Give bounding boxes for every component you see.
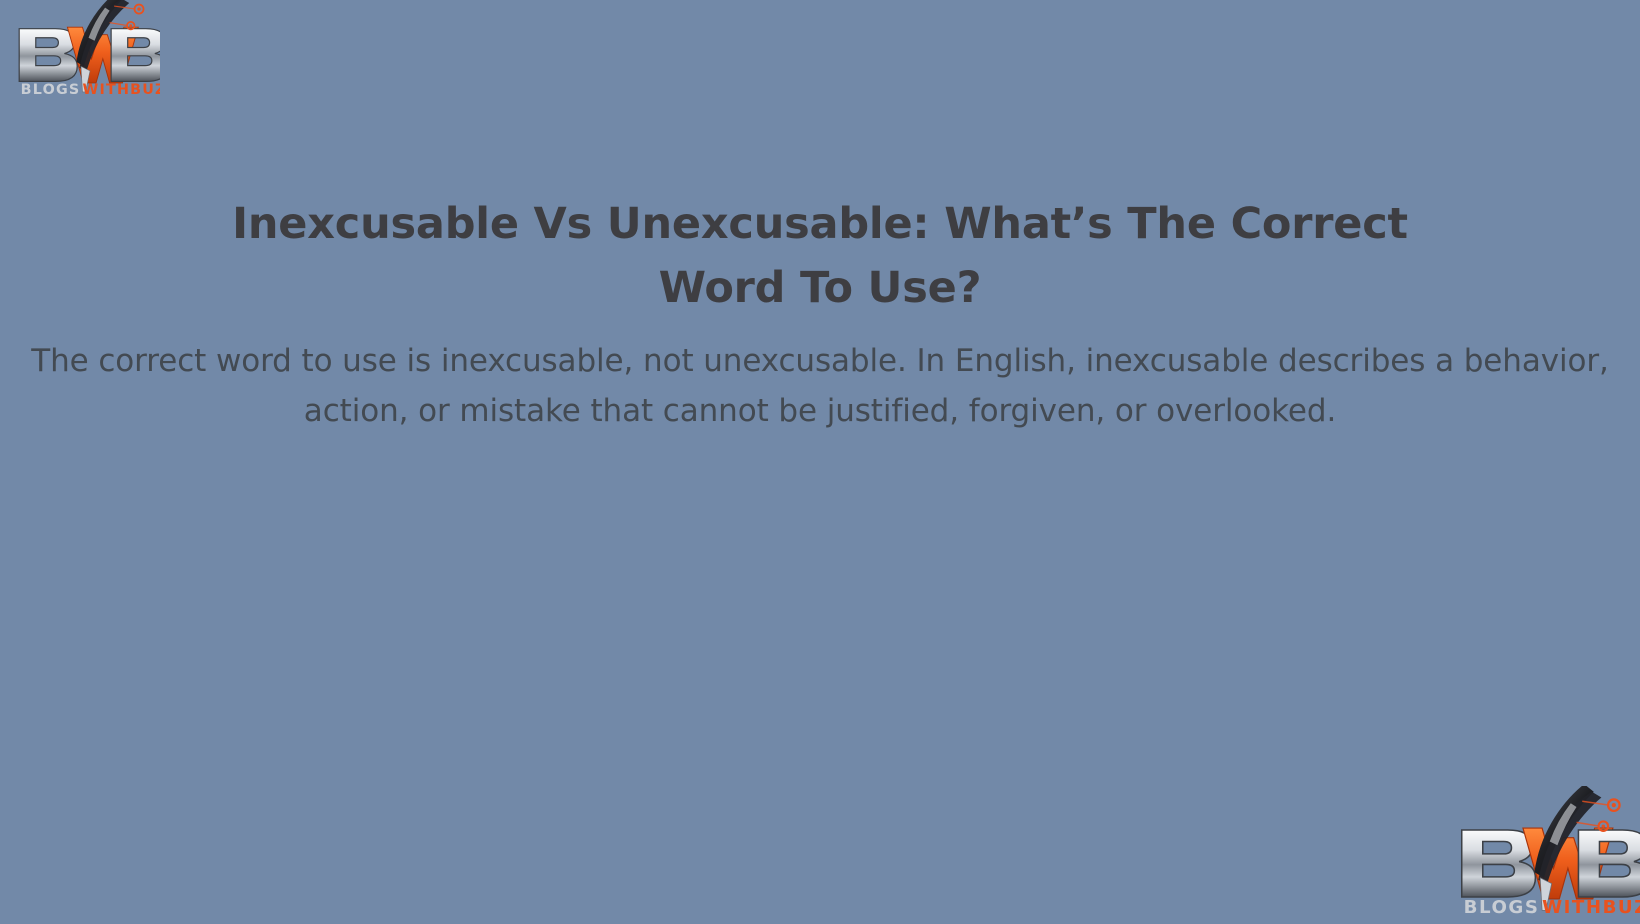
logo-letter-b-right [1578,830,1640,897]
brand-logo-bottom-right[interactable]: BLOGS WITHBUZ [1448,786,1640,918]
bwb-logo-svg-small: BLOGS WITHBUZ [1448,786,1640,918]
slide-content: Inexcusable Vs Unexcusable: What’s The C… [0,0,1640,924]
page-title: Inexcusable Vs Unexcusable: What’s The C… [170,192,1470,320]
slide-canvas: BLOGS WITHBUZ Inexcusable Vs Unexcusable… [0,0,1640,924]
logo-letter-b-left [1462,830,1536,897]
logo-tagline: BLOGS WITHBUZ [1464,897,1640,918]
page-body-text: The correct word to use is inexcusable, … [6,336,1634,436]
tagline-withbuz: WITHBUZ [1542,897,1640,918]
tagline-blogs: BLOGS [1464,897,1540,918]
